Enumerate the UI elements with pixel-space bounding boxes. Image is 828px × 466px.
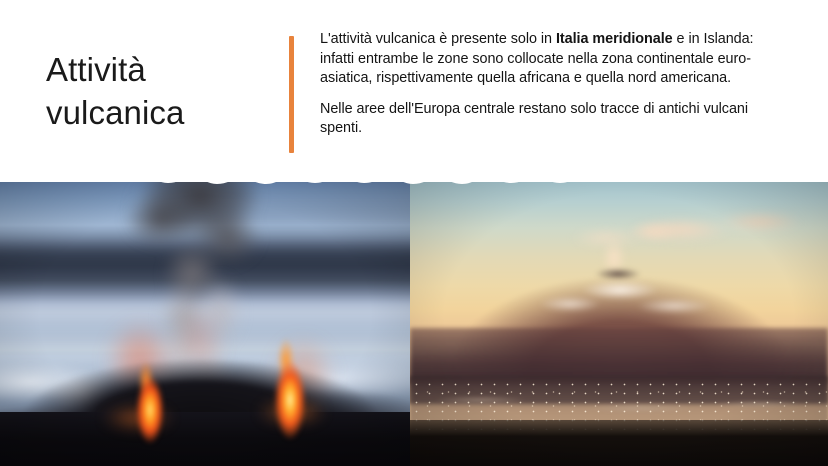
body-paragraph-1: L'attività vulcanica è presente solo in …: [320, 30, 772, 89]
torn-paper-edge-divider: [0, 170, 828, 194]
photo-vignette: [0, 176, 410, 466]
presentation-slide: Attività vulcanica L'attività vulcanica …: [0, 0, 828, 466]
image-monte-etna: [410, 176, 828, 466]
body-text-block: L'attività vulcanica è presente solo in …: [320, 30, 772, 139]
photo-vignette: [410, 176, 828, 466]
slide-text-band: Attività vulcanica L'attività vulcanica …: [0, 0, 828, 182]
orange-accent-bar: [289, 36, 294, 153]
page-title: Attività vulcanica: [46, 48, 276, 134]
photo-band: [0, 176, 828, 466]
body-paragraph-2: Nelle aree dell'Europa centrale restano …: [320, 100, 772, 139]
image-eruzione-islanda: [0, 176, 410, 466]
